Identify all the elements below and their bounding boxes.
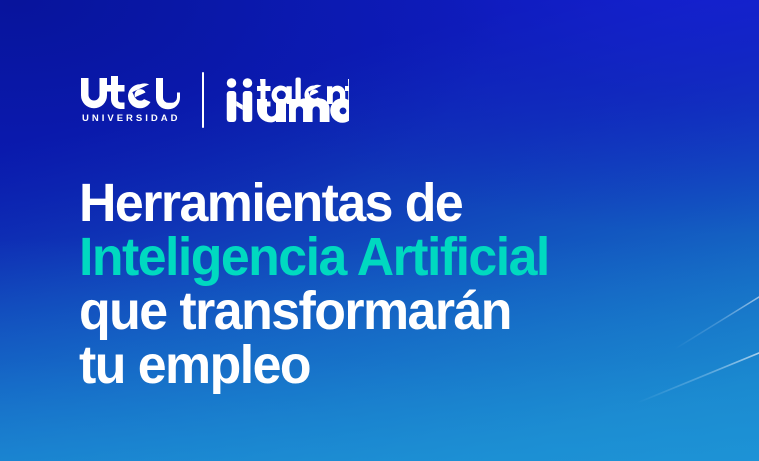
utel-subtitle: UNIVERSIDAD [79,114,180,124]
talento-humano-wordmark-icon [225,75,349,125]
utel-logo: UNIVERSIDAD [79,76,180,124]
headline-line-1: Herramientas de [79,176,693,230]
headline-line-4: tu empleo [79,338,693,392]
logo-divider [202,72,204,128]
headline: Herramientas de Inteligencia Artificial … [79,176,719,392]
promotional-banner: UNIVERSIDAD [0,0,759,461]
brand-logo-lockup: UNIVERSIDAD [79,70,349,130]
utel-wordmark-icon [80,76,180,110]
headline-line-2: Inteligencia Artificial [79,230,693,284]
headline-line-3: que transformarán [79,284,693,338]
talento-humano-logo [225,75,349,125]
